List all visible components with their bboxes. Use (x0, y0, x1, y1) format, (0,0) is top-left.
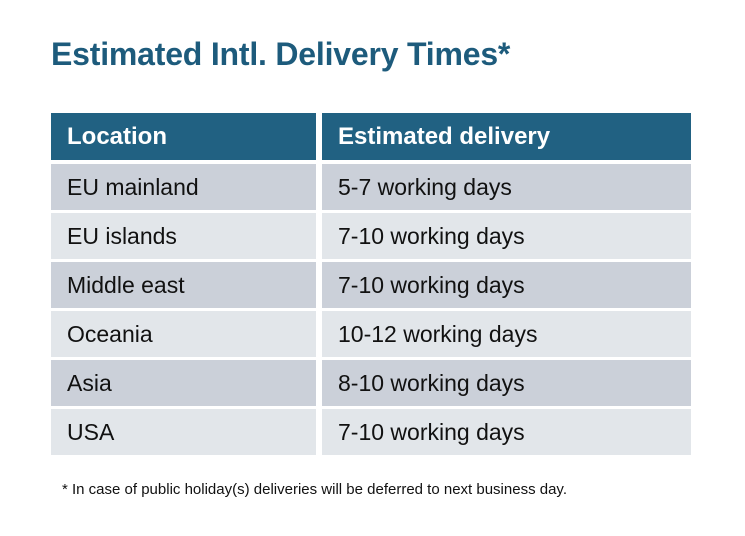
table-row: EU mainland 5-7 working days (51, 164, 691, 210)
cell-delivery: 8-10 working days (322, 360, 691, 406)
cell-location: EU islands (51, 213, 316, 259)
cell-delivery: 7-10 working days (322, 409, 691, 455)
cell-delivery: 5-7 working days (322, 164, 691, 210)
cell-delivery: 7-10 working days (322, 262, 691, 308)
cell-location: Oceania (51, 311, 316, 357)
cell-location: Middle east (51, 262, 316, 308)
cell-location: USA (51, 409, 316, 455)
cell-location: Asia (51, 360, 316, 406)
page-title: Estimated Intl. Delivery Times* (51, 36, 510, 73)
table-row: USA 7-10 working days (51, 409, 691, 455)
column-header-estimated-delivery: Estimated delivery (322, 113, 691, 160)
table-row: Middle east 7-10 working days (51, 262, 691, 308)
cell-delivery: 10-12 working days (322, 311, 691, 357)
table-row: EU islands 7-10 working days (51, 213, 691, 259)
table-row: Asia 8-10 working days (51, 360, 691, 406)
delivery-times-page: Estimated Intl. Delivery Times* Location… (0, 0, 745, 536)
cell-delivery: 7-10 working days (322, 213, 691, 259)
footnote-text: * In case of public holiday(s) deliverie… (62, 481, 567, 498)
delivery-times-table: Location Estimated delivery EU mainland … (51, 113, 691, 458)
table-header-row: Location Estimated delivery (51, 113, 691, 160)
cell-location: EU mainland (51, 164, 316, 210)
column-header-location: Location (51, 113, 316, 160)
table-row: Oceania 10-12 working days (51, 311, 691, 357)
